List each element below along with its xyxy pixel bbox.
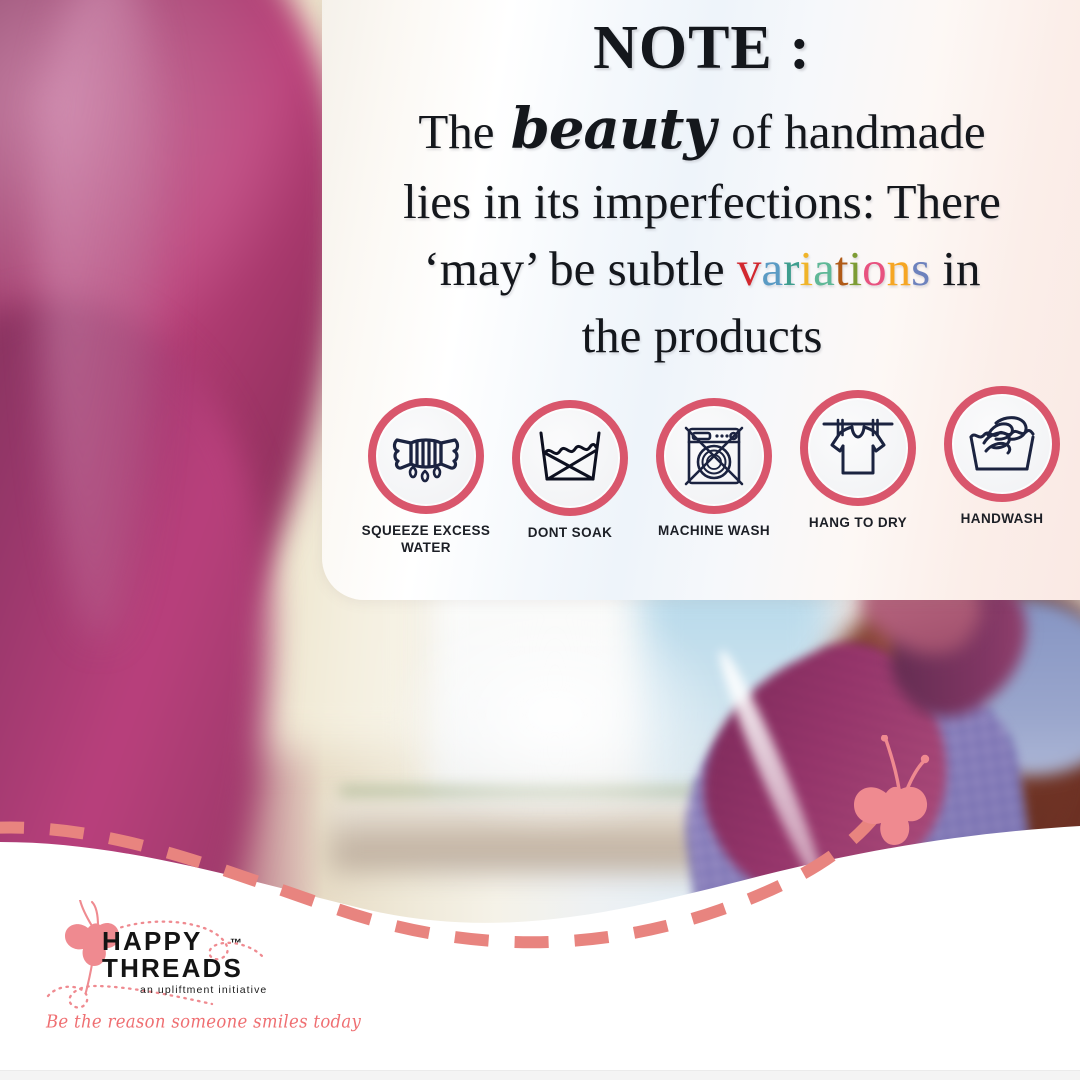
variations-letter-4: a <box>813 241 835 296</box>
logo-tagline: Be the reason someone smiles today <box>46 1012 361 1032</box>
care-item-squeeze-excess-water[interactable]: SQUEEZE EXCESS WATER <box>356 398 496 557</box>
variations-colored-word: variations <box>737 241 930 296</box>
care-label: SQUEEZE EXCESS WATER <box>356 523 496 557</box>
note-line1-post: of handmade <box>731 104 985 159</box>
logo-subtitle: an upliftment initiative <box>140 984 267 996</box>
note-body: The beauty of handmade lies in its imper… <box>322 91 1080 369</box>
note-line1-script-word: beauty <box>507 96 719 162</box>
note-card: NOTE : The beauty of handmade lies in it… <box>322 0 1080 600</box>
brand-logo[interactable]: HAPPY THREADS ™ an upliftment initiative… <box>36 900 296 1050</box>
variations-letter-9: s <box>911 241 930 296</box>
variations-letter-1: a <box>761 241 783 296</box>
variations-letter-2: r <box>783 241 799 296</box>
note-line3-pre: ‘may’ be subtle <box>423 241 724 296</box>
logo-name-line2: THREADS <box>102 955 243 982</box>
care-item-machine-wash[interactable]: MACHINE WASH <box>644 398 784 540</box>
note-line-2: lies in its imperfections: There <box>352 168 1052 235</box>
hang-to-dry-icon <box>821 415 895 481</box>
bottom-edge-strip <box>0 1070 1080 1080</box>
handwash-icon <box>966 413 1038 475</box>
care-label: DONT SOAK <box>528 525 613 542</box>
care-item-dont-soak[interactable]: DONT SOAK <box>500 400 640 542</box>
trademark-symbol: ™ <box>230 936 242 950</box>
squeeze-water-icon <box>389 426 463 486</box>
logo-wordmark: HAPPY THREADS <box>102 928 243 982</box>
butterfly-icon <box>838 735 958 870</box>
no-machine-wash-icon <box>681 423 747 489</box>
care-icon-ring <box>512 400 628 516</box>
poster-canvas: NOTE : The beauty of handmade lies in it… <box>0 0 1080 1080</box>
variations-letter-3: i <box>799 241 813 296</box>
note-line3-post: in <box>942 241 980 296</box>
care-label: HANG TO DRY <box>809 515 907 532</box>
variations-letter-5: t <box>835 241 849 296</box>
variations-letter-0: v <box>737 241 762 296</box>
care-item-hang-to-dry[interactable]: HANG TO DRY <box>788 390 928 532</box>
note-line1-pre: The <box>418 104 494 159</box>
care-icon-ring <box>656 398 772 514</box>
note-line-1: The beauty of handmade <box>352 91 1052 168</box>
note-line-4: the products <box>352 302 1052 369</box>
care-label: MACHINE WASH <box>658 523 770 540</box>
care-instructions-row: SQUEEZE EXCESS WATER DONT SOAK <box>356 398 1072 557</box>
logo-name-line1: HAPPY <box>102 928 243 955</box>
photo-highlight-center <box>390 600 720 830</box>
care-icon-ring <box>800 390 916 506</box>
note-line-3: ‘may’ be subtle variations in <box>352 235 1052 302</box>
page-title: NOTE : <box>322 16 1080 81</box>
care-item-handwash[interactable]: HANDWASH <box>932 386 1072 528</box>
care-label: HANDWASH <box>961 511 1044 528</box>
no-soak-icon <box>535 427 605 489</box>
headline-block: NOTE : The beauty of handmade lies in it… <box>322 16 1080 369</box>
care-icon-ring <box>368 398 484 514</box>
care-icon-ring <box>944 386 1060 502</box>
variations-letter-7: o <box>862 241 887 296</box>
variations-letter-6: i <box>848 241 862 296</box>
variations-letter-8: n <box>887 241 912 296</box>
